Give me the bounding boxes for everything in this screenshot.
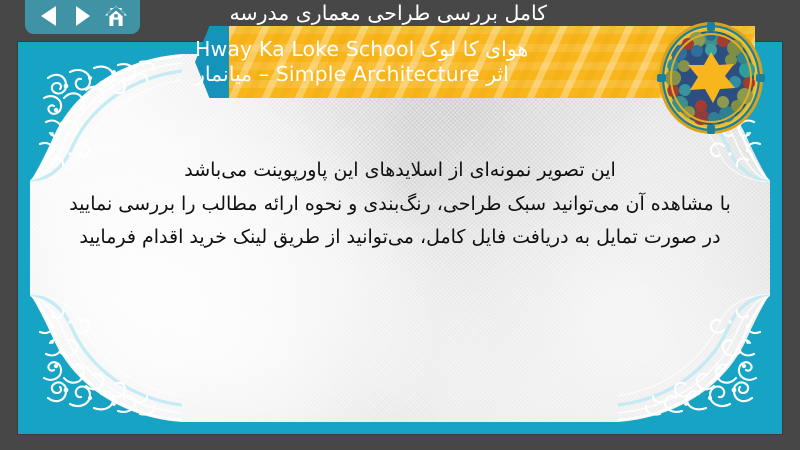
triangle-left-icon xyxy=(39,5,59,27)
house-icon xyxy=(104,5,128,28)
body-line-1: این تصویر نمونه‌ای از اسلایدهای این پاور… xyxy=(58,154,742,188)
presentation-viewer: این تصویر نمونه‌ای از اسلایدهای این پاور… xyxy=(0,0,800,450)
body-line-2: با مشاهده آن می‌توانید سبک طراحی، رنگ‌بن… xyxy=(58,188,742,222)
body-line-3: در صورت تمایل به دریافت فایل کامل، می‌تو… xyxy=(58,221,742,255)
next-slide-button[interactable] xyxy=(70,4,96,28)
prev-slide-button[interactable] xyxy=(36,4,62,28)
islamic-medallion-icon xyxy=(657,20,765,136)
slide-title-banner: هوای کا لوک Hway Ka Loke School اثر Simp… xyxy=(195,26,755,98)
slide-body-text: این تصویر نمونه‌ای از اسلایدهای این پاور… xyxy=(58,154,742,255)
home-button[interactable] xyxy=(103,4,129,28)
title-line-3: اثر Simple Architecture – میانمار xyxy=(195,62,509,87)
arabesque-corner-ornament-icon xyxy=(30,294,182,422)
title-line-2: هوای کا لوک Hway Ka Loke School xyxy=(195,37,528,62)
triangle-right-icon xyxy=(74,5,92,27)
arabesque-corner-ornament-icon xyxy=(618,294,770,422)
navigation-controls xyxy=(25,0,140,34)
title-line-1: کامل بررسی طراحی معماری مدرسه xyxy=(229,1,547,26)
